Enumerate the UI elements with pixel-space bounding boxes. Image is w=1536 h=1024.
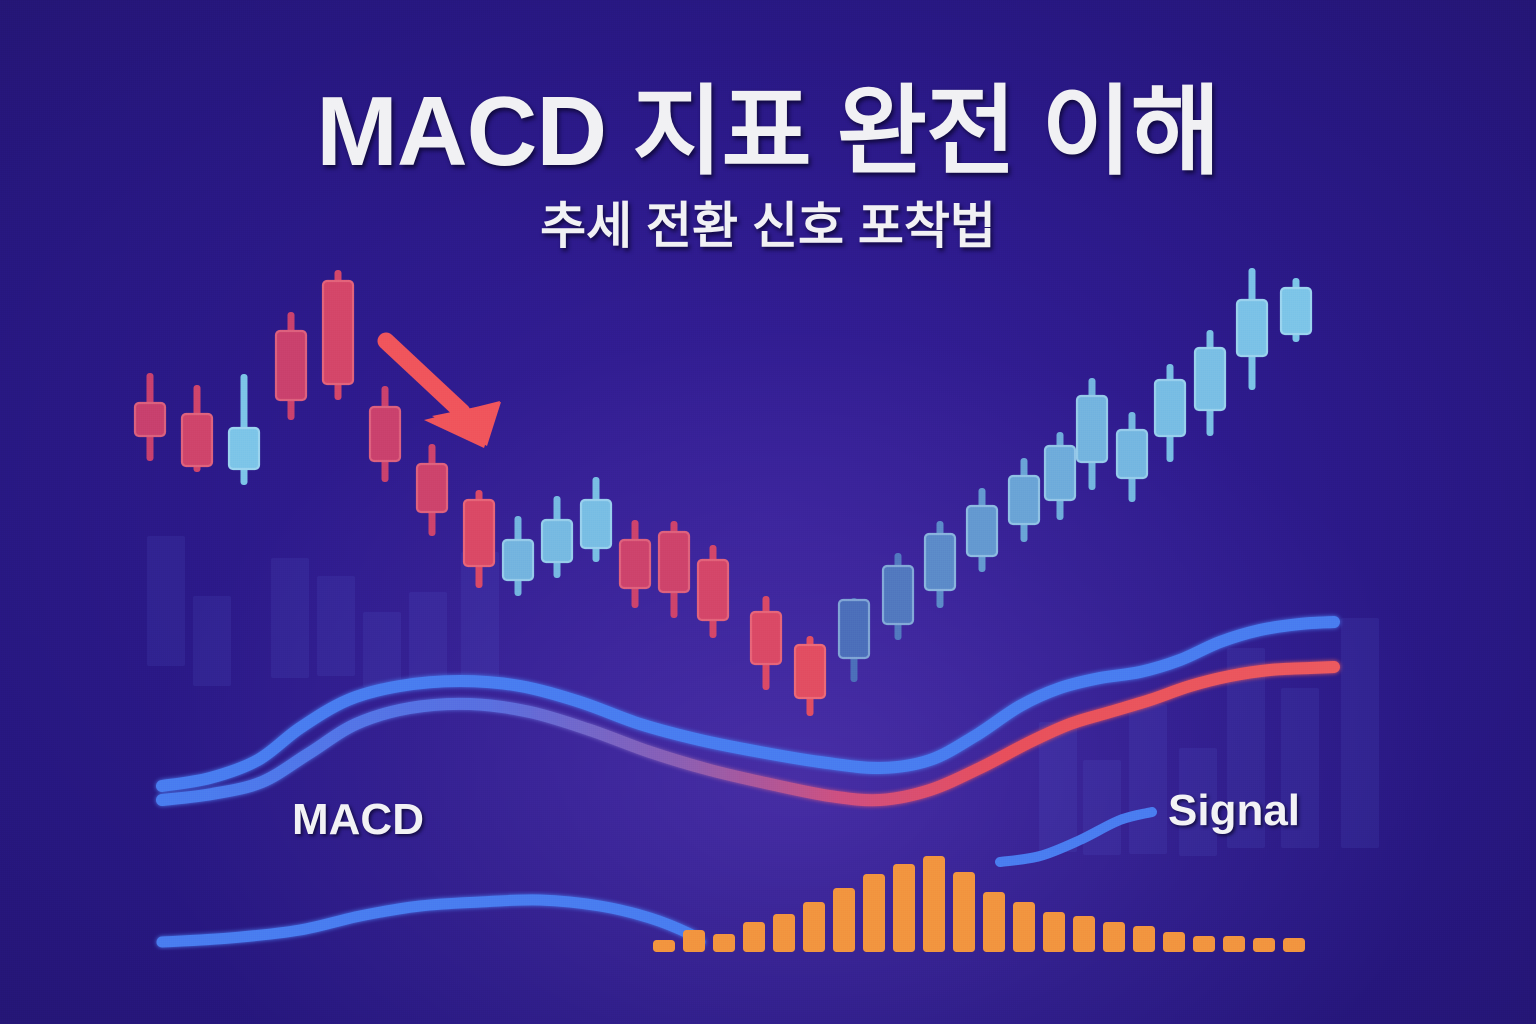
signal-series-label: Signal <box>1168 786 1300 836</box>
volume-bar <box>193 596 231 686</box>
histogram-bar <box>713 934 735 952</box>
candlestick-layer <box>135 268 1311 716</box>
histogram-bar <box>803 902 825 952</box>
histogram-bar <box>1133 926 1155 952</box>
histogram-bar <box>983 892 1005 952</box>
macd-chart <box>0 0 1536 1024</box>
candlestick <box>1117 412 1147 502</box>
histogram-bar <box>743 922 765 952</box>
candlestick <box>417 444 447 536</box>
candlestick <box>581 477 611 562</box>
candlestick <box>839 598 869 682</box>
candlestick <box>182 385 212 472</box>
downtrend-arrow <box>386 341 501 448</box>
volume-bar <box>147 536 185 666</box>
candlestick <box>795 636 825 716</box>
volume-bar <box>363 612 401 687</box>
macd-infographic-canvas: MACD 지표 완전 이해 추세 전환 신호 포착법 <box>0 0 1536 1024</box>
histogram-bar <box>1253 938 1275 952</box>
histogram-bar <box>653 940 675 952</box>
candlestick <box>883 553 913 640</box>
histogram-bar <box>893 864 915 952</box>
histogram-bar <box>833 888 855 952</box>
candlestick <box>698 545 728 638</box>
macd-histogram <box>653 856 1305 952</box>
candlestick <box>659 521 689 618</box>
histogram-bar <box>1073 916 1095 952</box>
histogram-bar <box>923 856 945 952</box>
candlestick <box>1281 278 1311 342</box>
histogram-bar <box>1013 902 1035 952</box>
volume-bar <box>317 576 355 676</box>
histogram-bar <box>1193 936 1215 952</box>
histogram-bar <box>1103 922 1125 952</box>
macd-lower-line <box>162 900 700 942</box>
volume-bar <box>1341 618 1379 848</box>
candlestick <box>1237 268 1267 390</box>
histogram-bar <box>1283 938 1305 952</box>
histogram-bar <box>1043 912 1065 952</box>
candlestick <box>503 516 533 596</box>
candlestick <box>135 373 165 461</box>
candlestick <box>925 521 955 608</box>
histogram-bar <box>683 930 705 952</box>
candlestick <box>967 488 997 572</box>
candlestick <box>1155 364 1185 462</box>
candlestick <box>1077 378 1107 490</box>
volume-bar <box>409 592 447 687</box>
candlestick <box>1045 432 1075 520</box>
histogram-bar <box>1223 936 1245 952</box>
histogram-bar <box>863 874 885 952</box>
candlestick <box>323 270 353 400</box>
candlestick <box>370 386 400 482</box>
candlestick <box>751 596 781 690</box>
volume-bar <box>1129 704 1167 854</box>
histogram-bar <box>773 914 795 952</box>
candlestick <box>276 312 306 420</box>
candlestick <box>229 374 259 485</box>
macd-series-label: MACD <box>292 795 424 845</box>
candlestick <box>1195 330 1225 436</box>
candlestick <box>542 496 572 578</box>
candlestick <box>620 520 650 608</box>
volume-bar <box>271 558 309 678</box>
candlestick <box>1009 458 1039 542</box>
histogram-bar <box>953 872 975 952</box>
histogram-bar <box>1163 932 1185 952</box>
